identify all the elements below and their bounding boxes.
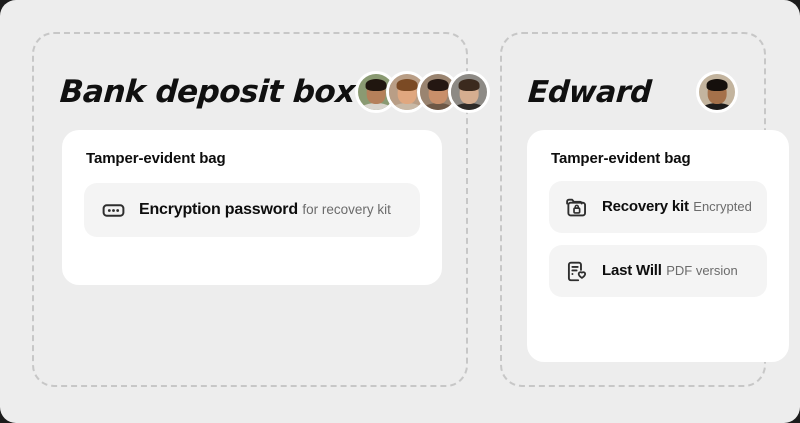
item-subtitle: for recovery kit bbox=[302, 202, 391, 217]
panel-title-vault: Tamper-evident bag bbox=[86, 150, 420, 167]
folder-lock-icon bbox=[563, 194, 589, 220]
avatar-edward[interactable] bbox=[696, 71, 738, 113]
item-subtitle: PDF version bbox=[666, 263, 738, 278]
item-title: Encryption password bbox=[139, 201, 298, 218]
password-dots-icon bbox=[100, 197, 126, 223]
zone-header-vault: Bank deposit box bbox=[34, 62, 466, 122]
panel-title-person: Tamper-evident bag bbox=[551, 150, 767, 167]
panel-tamper-evident-bag-person: Tamper-evident bag Recovery kit Encrypte… bbox=[527, 130, 789, 362]
item-encryption-password[interactable]: Encryption password for recovery kit bbox=[84, 183, 420, 237]
avatar-group-person bbox=[696, 71, 738, 113]
zone-title-vault: Bank deposit box bbox=[59, 74, 356, 110]
zone-title-person: Edward bbox=[527, 75, 653, 110]
avatar-group-vault bbox=[355, 71, 490, 113]
item-subtitle: Encrypted bbox=[693, 199, 752, 214]
item-recovery-kit[interactable]: Recovery kit Encrypted bbox=[549, 181, 767, 233]
zone-edward: Edward Tamper-evident bag bbox=[500, 32, 766, 387]
zone-bank-deposit-box: Bank deposit box bbox=[32, 32, 468, 387]
zone-header-person: Edward bbox=[502, 62, 764, 122]
panel-tamper-evident-bag-vault: Tamper-evident bag Encryption password f… bbox=[62, 130, 442, 285]
document-heart-icon bbox=[563, 258, 589, 284]
item-title: Last Will bbox=[602, 262, 662, 279]
item-title: Recovery kit bbox=[602, 198, 689, 215]
diagram-canvas: Bank deposit box bbox=[0, 0, 800, 423]
item-last-will[interactable]: Last Will PDF version bbox=[549, 245, 767, 297]
avatar-person-4[interactable] bbox=[448, 71, 490, 113]
